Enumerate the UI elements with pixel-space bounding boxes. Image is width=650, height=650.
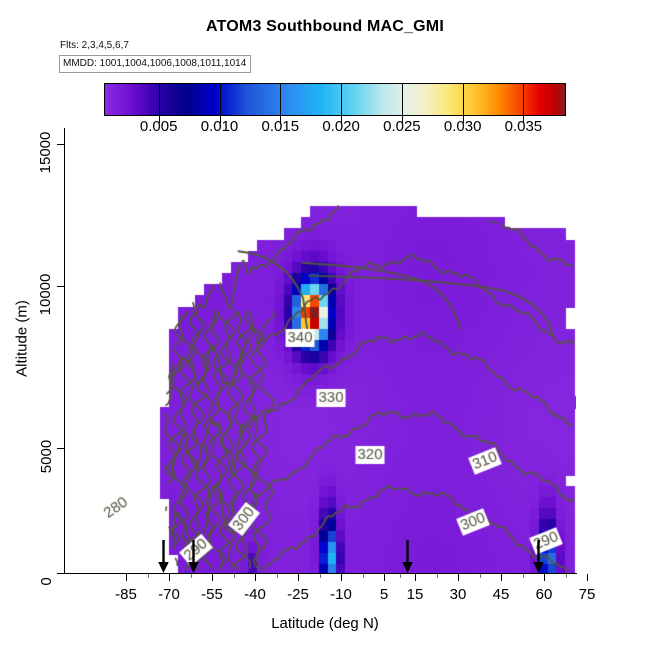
- profile-marker-arrow: [157, 540, 170, 579]
- x-tick: [298, 574, 299, 581]
- y-tick: [57, 448, 64, 449]
- y-axis-line: [64, 128, 65, 574]
- x-tick: [384, 574, 385, 581]
- colorbar: [104, 83, 566, 116]
- y-tick: [57, 286, 64, 287]
- page-title: ATOM3 Southbound MAC_GMI: [0, 18, 650, 36]
- y-tick-label: 10000: [38, 274, 55, 316]
- x-minor-tick: [523, 574, 524, 578]
- x-tick-label: -85: [115, 586, 137, 603]
- profile-marker-arrow: [187, 540, 200, 579]
- x-tick-label: -25: [287, 586, 309, 603]
- x-minor-tick: [566, 574, 567, 578]
- y-tick-label: 5000: [38, 440, 55, 473]
- y-axis-title: Altitude (m): [14, 229, 31, 449]
- heatmap-canvas: [64, 128, 576, 573]
- x-minor-tick: [437, 574, 438, 578]
- y-tick-label: 15000: [38, 132, 55, 174]
- profile-marker-arrow: [401, 540, 414, 579]
- profile-marker-arrow: [532, 540, 545, 579]
- flights-annotation: Flts: 2,3,4,5,6,7: [60, 40, 129, 51]
- x-tick: [212, 574, 213, 581]
- x-tick-label: 30: [450, 586, 467, 603]
- colorbar-tick: [523, 83, 524, 123]
- mmdd-annotation: MMDD: 1001,1004,1006,1008,1011,1014: [59, 55, 251, 73]
- y-tick: [57, 144, 64, 145]
- x-minor-tick: [234, 574, 235, 578]
- x-tick: [341, 574, 342, 581]
- x-tick: [587, 574, 588, 581]
- x-tick: [255, 574, 256, 581]
- x-minor-tick: [277, 574, 278, 578]
- x-tick: [415, 574, 416, 581]
- x-tick-label: -40: [244, 586, 266, 603]
- y-tick: [57, 573, 64, 574]
- x-tick: [501, 574, 502, 581]
- colorbar-tick: [220, 83, 221, 123]
- x-tick-label: -10: [330, 586, 352, 603]
- y-tick-label: 0: [38, 577, 55, 585]
- x-minor-tick: [363, 574, 364, 578]
- colorbar-tick: [402, 83, 403, 123]
- x-tick-label: 5: [380, 586, 388, 603]
- colorbar-tick: [280, 83, 281, 123]
- x-tick-label: 75: [579, 586, 596, 603]
- x-minor-tick: [480, 574, 481, 578]
- x-axis-title: Latitude (deg N): [0, 615, 650, 632]
- heatmap-panel: [64, 128, 576, 573]
- figure-root: ATOM3 Southbound MAC_GMI Flts: 2,3,4,5,6…: [0, 0, 650, 650]
- x-tick-label: 45: [493, 586, 510, 603]
- colorbar-tick: [341, 83, 342, 123]
- x-tick-label: -70: [158, 586, 180, 603]
- x-tick: [126, 574, 127, 581]
- x-tick-label: 60: [536, 586, 553, 603]
- x-minor-tick: [320, 574, 321, 578]
- x-tick-label: 15: [407, 586, 424, 603]
- colorbar-tick: [463, 83, 464, 123]
- colorbar-tick: [159, 83, 160, 123]
- x-tick: [458, 574, 459, 581]
- x-minor-tick: [148, 574, 149, 578]
- x-tick-label: -55: [201, 586, 223, 603]
